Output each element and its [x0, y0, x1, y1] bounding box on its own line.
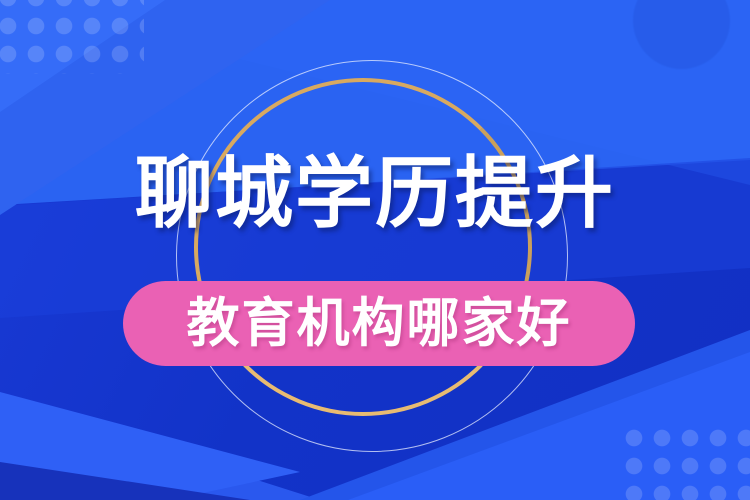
dot-grid-top-left-icon	[0, 0, 144, 74]
dot-grid-bottom-right-icon	[620, 424, 750, 500]
banner-headline: 聊城学历提升	[0, 154, 750, 232]
promo-banner: 聊城学历提升 教育机构哪家好	[0, 0, 750, 500]
subheadline-capsule: 教育机构哪家好	[123, 281, 635, 366]
banner-subheadline: 教育机构哪家好	[187, 297, 572, 350]
